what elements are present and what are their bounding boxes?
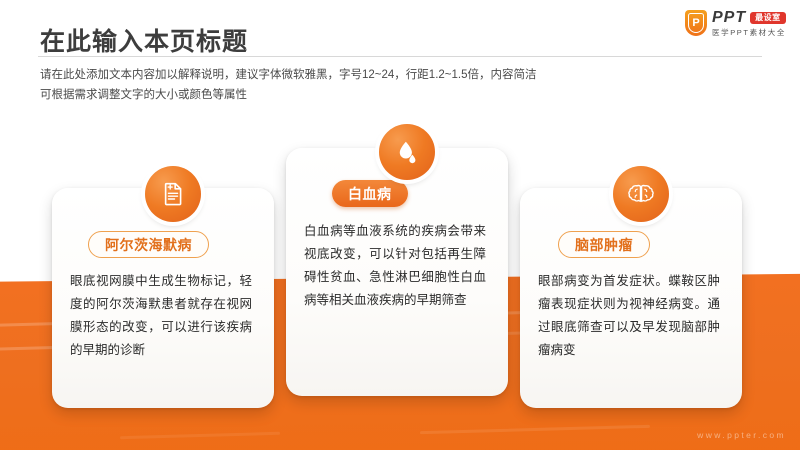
logo-name: PPT <box>712 10 746 26</box>
card-label-alzheimers: 阿尔茨海默病 <box>88 231 209 258</box>
logo-text-block: PPT 最设室 医学PPT素材大全 <box>712 10 786 37</box>
brand-logo: P PPT 最设室 医学PPT素材大全 <box>685 8 786 38</box>
medical-document-icon <box>145 166 201 222</box>
title-divider <box>38 56 762 57</box>
subtitle-line-2: 可根据需求调整文字的大小或颜色等属性 <box>40 85 680 105</box>
shield-icon: P <box>685 10 707 36</box>
logo-tagline: 医学PPT素材大全 <box>712 29 786 37</box>
card-label-brain-tumor: 脑部肿瘤 <box>558 231 650 258</box>
page-title: 在此输入本页标题 <box>40 22 248 58</box>
card-body-alzheimers: 眼底视网膜中生成生物标记，轻度的阿尔茨海默患者就存在视网膜形态的改变，可以进行该… <box>70 270 252 362</box>
card-body-brain-tumor: 眼部病变为首发症状。蝶鞍区肿瘤表现症状则为视神经病变。通过眼底筛查可以及早发现脑… <box>538 270 720 362</box>
subtitle-line-1: 请在此处添加文本内容加以解释说明，建议字体微软雅黑，字号12~24，行距1.2~… <box>40 65 680 85</box>
watermark: www.ppter.com <box>697 430 786 440</box>
brain-icon <box>613 166 669 222</box>
logo-badge: 最设室 <box>750 12 786 24</box>
card-label-leukemia: 白血病 <box>332 180 408 207</box>
logo-mark-letter: P <box>692 17 699 29</box>
page-subtitle: 请在此处添加文本内容加以解释说明，建议字体微软雅黑，字号12~24，行距1.2~… <box>40 65 680 105</box>
logo-name-row: PPT 最设室 <box>712 10 786 26</box>
card-body-leukemia: 白血病等血液系统的疾病会带来视底改变，可以针对包括再生障碍性贫血、急性淋巴细胞性… <box>304 220 486 312</box>
blood-drop-icon <box>379 124 435 180</box>
